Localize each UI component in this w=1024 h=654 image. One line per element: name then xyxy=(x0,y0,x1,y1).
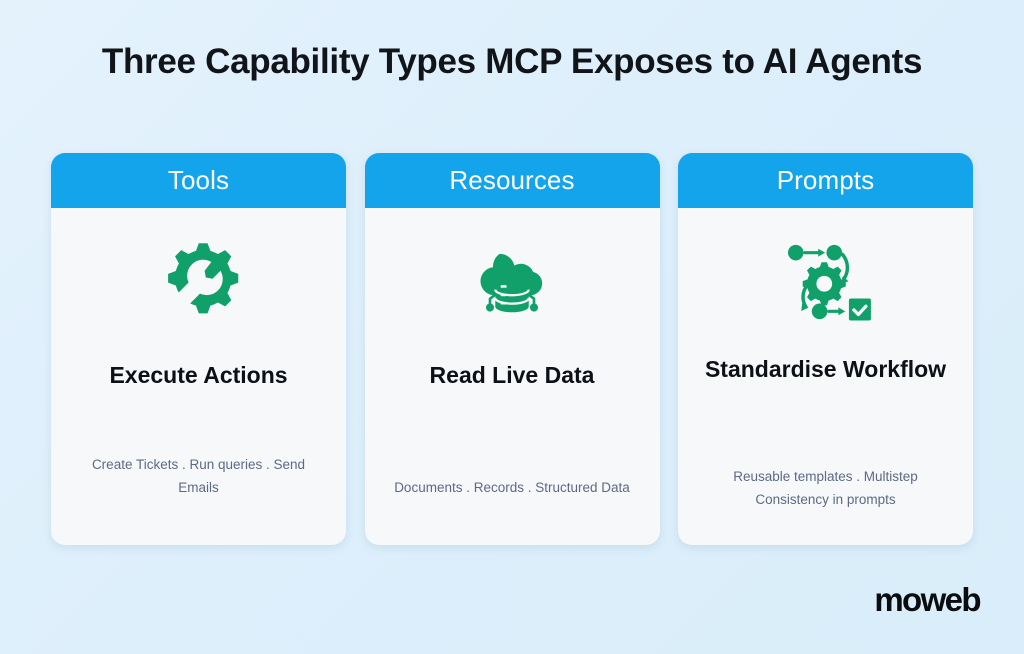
cloud-database-icon xyxy=(468,236,556,328)
card-header-resources: Resources xyxy=(365,153,660,208)
capability-card-prompts: Prompts xyxy=(678,153,973,545)
capability-card-resources: Resources xyxy=(365,153,660,545)
card-subtitle-tools: Create Tickets . Run queries . Send Emai… xyxy=(74,453,324,499)
card-heading-tools: Execute Actions xyxy=(71,360,326,390)
gear-wrench-icon xyxy=(153,236,245,328)
page-title: Three Capability Types MCP Exposes to AI… xyxy=(0,42,1024,82)
card-heading-resources: Read Live Data xyxy=(385,360,640,390)
card-heading-prompts: Standardise Workflow xyxy=(698,354,953,384)
card-subtitle-prompts: Reusable templates . Multistep Consisten… xyxy=(701,465,951,511)
moweb-logo: moweb xyxy=(874,583,980,616)
capability-card-tools: Tools Execute Actions Create Tickets . R… xyxy=(51,153,346,545)
capability-card-row: Tools Execute Actions Create Tickets . R… xyxy=(51,153,973,545)
infographic-canvas: Three Capability Types MCP Exposes to AI… xyxy=(0,0,1024,654)
card-header-prompts: Prompts xyxy=(678,153,973,208)
card-header-tools: Tools xyxy=(51,153,346,208)
workflow-gear-check-icon xyxy=(780,236,872,328)
card-subtitle-resources: Documents . Records . Structured Data xyxy=(387,476,637,499)
